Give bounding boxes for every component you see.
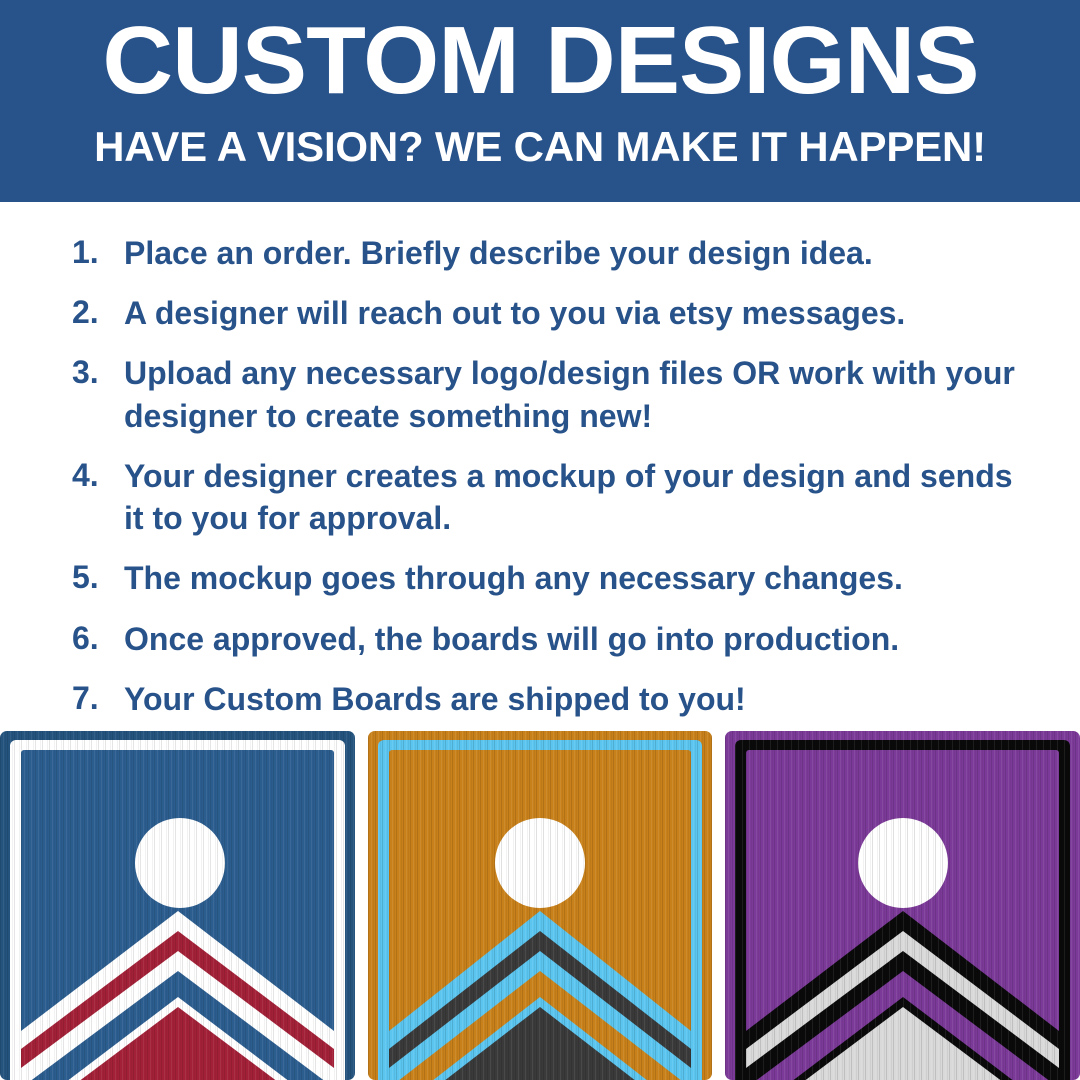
list-item: 5. The mockup goes through any necessary… [72,557,1022,599]
header-banner: CUSTOM DESIGNS HAVE A VISION? WE CAN MAK… [0,0,1080,202]
list-item: 6. Once approved, the boards will go int… [72,618,1022,660]
board-art-blue [0,731,355,1080]
step-number: 5. [72,557,124,599]
cornhole-board-purple [725,731,1080,1080]
board-art-orange [368,731,712,1080]
steps-list: 1. Place an order. Briefly describe your… [0,202,1080,731]
step-text: Place an order. Briefly describe your de… [124,232,1022,274]
board-gallery [0,731,1080,1080]
page-subtitle: HAVE A VISION? WE CAN MAKE IT HAPPEN! [94,126,986,168]
board-art-purple [725,731,1080,1080]
list-item: 7. Your Custom Boards are shipped to you… [72,678,1022,720]
step-number: 6. [72,618,124,660]
step-text: Once approved, the boards will go into p… [124,618,1022,660]
list-item: 3. Upload any necessary logo/design file… [72,352,1022,436]
step-text: The mockup goes through any necessary ch… [124,557,1022,599]
list-item: 1. Place an order. Briefly describe your… [72,232,1022,274]
cornhole-board-orange [368,731,712,1080]
list-item: 4. Your designer creates a mockup of you… [72,455,1022,539]
step-text: Your Custom Boards are shipped to you! [124,678,1022,720]
step-text: Upload any necessary logo/design files O… [124,352,1022,436]
poster-root: CUSTOM DESIGNS HAVE A VISION? WE CAN MAK… [0,0,1080,1080]
step-text: Your designer creates a mockup of your d… [124,455,1022,539]
step-number: 4. [72,455,124,497]
page-title: CUSTOM DESIGNS [102,12,978,110]
step-number: 3. [72,352,124,394]
list-item: 2. A designer will reach out to you via … [72,292,1022,334]
cornhole-board-blue [0,731,355,1080]
step-number: 1. [72,232,124,274]
step-text: A designer will reach out to you via ets… [124,292,1022,334]
step-number: 2. [72,292,124,334]
step-number: 7. [72,678,124,720]
